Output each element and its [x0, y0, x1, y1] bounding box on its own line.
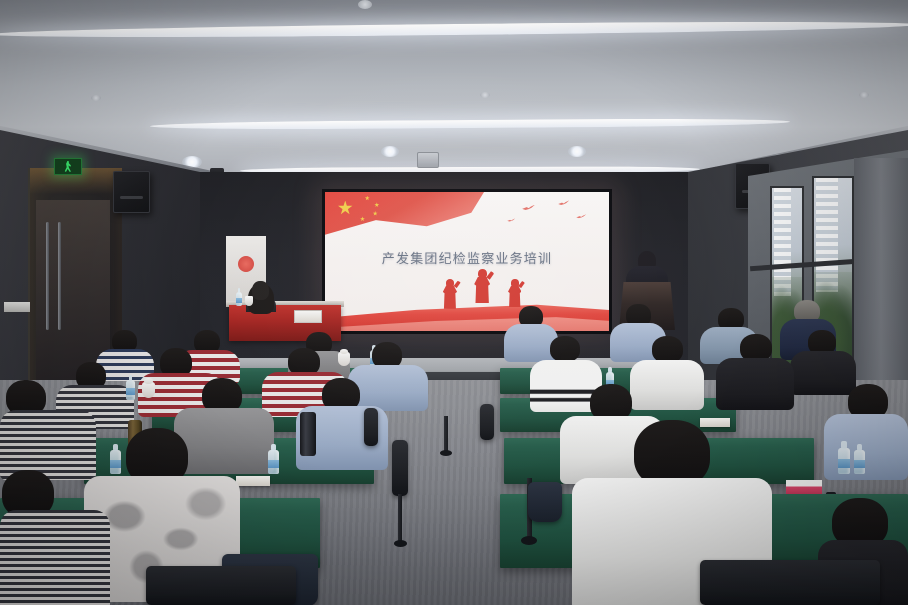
- flag-star-large: [338, 201, 353, 216]
- water-bottle: [126, 380, 135, 400]
- attendee-torso: [716, 358, 794, 410]
- seated-host-head: [252, 281, 269, 300]
- wall-placard: [4, 302, 30, 312]
- attendee-torso: [0, 510, 110, 605]
- flag-star-small: [360, 216, 365, 221]
- chair-back[interactable]: [480, 404, 494, 440]
- flying-dove-icon: [558, 200, 569, 206]
- water-bottle: [838, 448, 850, 474]
- door-handle[interactable]: [46, 222, 49, 330]
- silhouette-body: [508, 286, 521, 308]
- flag-star-small: [374, 202, 379, 207]
- thermos-flask: [300, 412, 316, 456]
- attendee-right-lblue: [824, 384, 908, 478]
- flag-star-small: [365, 196, 370, 201]
- flag-star-small: [373, 211, 378, 216]
- recessed-downlight: [568, 146, 586, 157]
- attendee-front-left-striped: [0, 380, 96, 476]
- ceiling-air-vent: [417, 152, 439, 168]
- silhouette-body: [474, 277, 490, 304]
- linear-cove-light: [150, 118, 790, 130]
- conference-room-photo: 产发集团纪检监察业务培训: [0, 0, 908, 605]
- lidded-tea-mug: [142, 382, 155, 398]
- flying-dove-icon: [576, 214, 586, 219]
- chinese-national-flag: [325, 192, 484, 253]
- wall-decor-dot: [238, 256, 254, 272]
- led-presentation-screen: 产发集团纪检监察业务培训: [325, 192, 609, 331]
- wall-speaker-left: [113, 171, 150, 213]
- chair-back[interactable]: [364, 408, 378, 446]
- saluting-soldier-silhouette: [441, 279, 458, 309]
- flying-dove-icon: [507, 218, 515, 222]
- recessed-downlight: [381, 146, 399, 157]
- attendee-torso: [824, 414, 908, 480]
- smoke-detector: [480, 92, 490, 98]
- running-man-icon: [64, 161, 72, 172]
- linear-cove-light: [0, 19, 908, 40]
- attendee-front-left-striped-2: [0, 470, 110, 605]
- water-bottle: [268, 450, 279, 474]
- lidded-tea-mug: [245, 296, 253, 306]
- flying-dove-icon: [522, 205, 535, 212]
- shoulder-bag[interactable]: [528, 482, 562, 522]
- handout-document: [236, 476, 270, 486]
- door-handle[interactable]: [58, 222, 61, 330]
- chair-foot: [440, 450, 452, 456]
- attendee-far-right-dark: [790, 330, 856, 392]
- chair-foot: [394, 540, 407, 547]
- led-display-bezel: 产发集团纪检监察业务培训: [322, 189, 612, 334]
- chair-back[interactable]: [146, 566, 296, 605]
- presentation-title: 产发集团纪检监察业务培训: [325, 248, 609, 267]
- attendee-head: [652, 336, 683, 363]
- chair-back[interactable]: [700, 560, 880, 605]
- water-bottle: [236, 292, 242, 306]
- saluting-soldier-silhouette: [473, 269, 492, 303]
- smoke-detector: [91, 95, 101, 101]
- chair-leg: [398, 494, 402, 542]
- water-bottle: [854, 450, 865, 474]
- silhouette-body: [443, 285, 457, 308]
- name-card: [294, 310, 322, 323]
- chair-back[interactable]: [392, 440, 408, 496]
- chair-foot: [521, 536, 537, 545]
- saluting-soldier-silhouette: [507, 279, 523, 307]
- smoke-detector: [859, 92, 869, 98]
- emergency-exit-sign: [54, 158, 82, 175]
- attendee-right-black: [716, 334, 794, 408]
- chair-leg: [444, 416, 448, 452]
- smoke-detector: [358, 0, 372, 9]
